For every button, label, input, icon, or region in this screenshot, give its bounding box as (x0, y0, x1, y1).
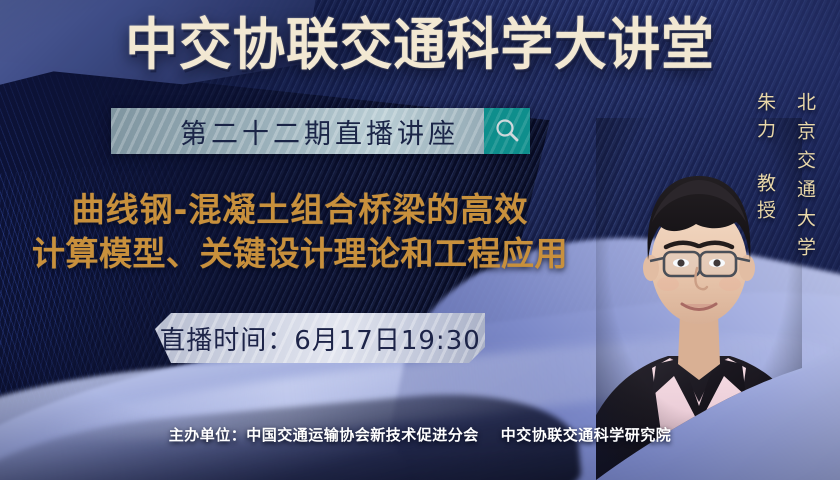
page-title: 中交协联交通科学大讲堂 (25, 16, 815, 76)
webinar-poster: 中交协联交通科学大讲堂 第二十二期直播讲座 曲线钢-混凝土组合桥梁的高效 计算模… (0, 0, 840, 480)
broadcast-time-banner: 直播时间：6月17日19:30 (155, 313, 485, 363)
session-bar: 第二十二期直播讲座 (111, 108, 530, 154)
footer-organizer-label: 主办单位： (169, 426, 247, 444)
session-bar-body: 第二十二期直播讲座 (111, 108, 484, 154)
footer-organizer-1: 中国交通运输协会新技术促进分会 (246, 426, 479, 444)
footer-organizers: 主办单位：中国交通运输协会新技术促进分会中交协联交通科学研究院 (0, 424, 840, 445)
broadcast-time-text: 直播时间：6月17日19:30 (159, 320, 481, 357)
session-label: 第二十二期直播讲座 (136, 112, 459, 151)
search-icon[interactable] (484, 108, 530, 154)
speaker-affiliation-vertical: 北京交通大学 (792, 92, 819, 266)
topic-line-1: 曲线钢-混凝土组合桥梁的高效 (0, 188, 600, 232)
speaker-name-vertical: 朱力 教授 (752, 92, 779, 227)
footer-organizer-2: 中交协联交通科学研究院 (501, 426, 672, 444)
topic-line-2: 计算模型、关键设计理论和工程应用 (0, 232, 600, 276)
topic-block: 曲线钢-混凝土组合桥梁的高效 计算模型、关键设计理论和工程应用 (0, 188, 600, 276)
